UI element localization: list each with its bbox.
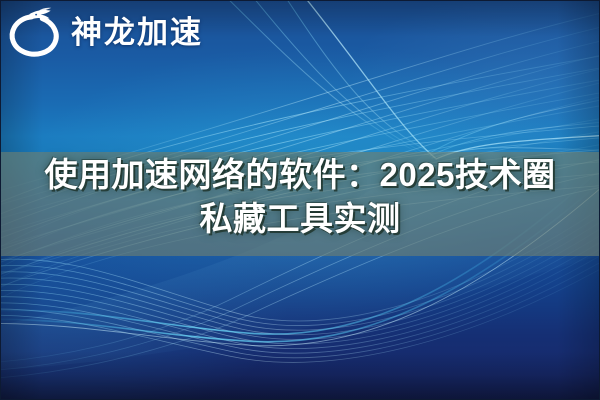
promo-banner: 神龙加速 使用加速网络的软件：2025技术圈 私藏工具实测 (0, 0, 600, 400)
headline: 使用加速网络的软件：2025技术圈 私藏工具实测 (1, 153, 599, 241)
brand-name: 神龙加速 (71, 17, 203, 48)
dragon-ring-icon (7, 4, 63, 60)
brand-logo: 神龙加速 (7, 4, 203, 60)
headline-line-2: 私藏工具实测 (1, 197, 599, 241)
headline-line-1: 使用加速网络的软件：2025技术圈 (1, 153, 599, 197)
